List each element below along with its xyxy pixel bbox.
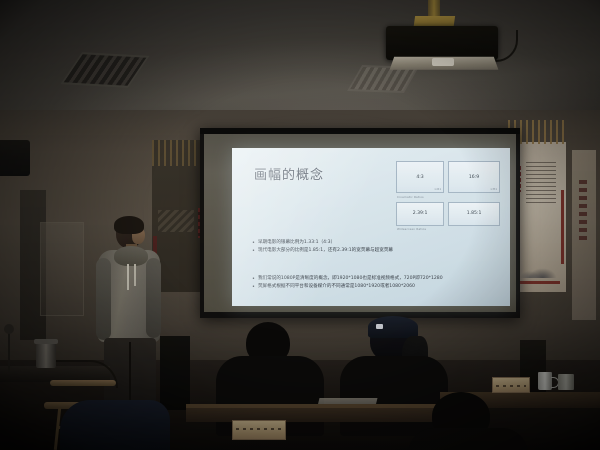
projector-lens bbox=[432, 58, 454, 66]
microphone-icon bbox=[4, 324, 14, 334]
metal-cup bbox=[538, 372, 552, 390]
bullet-text: 荧屏格式根据不同平台和设备媒介的不同通常是1080*1920或者1080*206… bbox=[258, 284, 415, 291]
ceiling-projector bbox=[386, 26, 498, 60]
ink-wash-mountain-art bbox=[514, 244, 560, 278]
cap-logo bbox=[376, 324, 383, 329]
aspect-caption-bottom: Widescreen Ratios bbox=[397, 227, 500, 231]
floor-speaker-left bbox=[160, 336, 190, 410]
aspect-box-4-3: 4:3 1.33:1 bbox=[396, 161, 444, 193]
banner-vertical-text bbox=[579, 180, 587, 240]
kettle-lid bbox=[34, 339, 58, 344]
slide-bullet-group-2: • 我们常说的1080P是清晰度的概念，即1920*1080也是标准视频格式，7… bbox=[252, 276, 452, 291]
hoodie-drawstring bbox=[134, 264, 136, 286]
audience-member-4 bbox=[60, 400, 170, 450]
wall-ac-unit bbox=[0, 140, 30, 176]
electric-kettle bbox=[36, 342, 56, 368]
name-card bbox=[232, 420, 286, 440]
presenter-hood bbox=[114, 246, 148, 266]
bullet-dot: • bbox=[252, 284, 255, 291]
aspect-box-16-9: 16:9 1.78:1 bbox=[448, 161, 500, 193]
audience-torso bbox=[408, 428, 528, 450]
classroom-presentation-photo: 画幅的概念 4:3 1.33:1 16:9 1.78:1 Cinematic R… bbox=[0, 0, 600, 450]
audience-torso bbox=[60, 400, 170, 450]
banner-body-text bbox=[526, 162, 556, 206]
slide-bullet: • 我们常说的1080P是清晰度的概念，即1920*1080也是标准视频格式，7… bbox=[252, 276, 452, 283]
presenter-arm-left bbox=[96, 258, 111, 340]
screen-surface: 画幅的概念 4:3 1.33:1 16:9 1.78:1 Cinematic R… bbox=[204, 134, 516, 312]
banner-rule bbox=[514, 281, 560, 284]
aspect-label: 4:3 bbox=[416, 175, 423, 180]
microphone-stand bbox=[8, 330, 10, 374]
aspect-ratio-row-top: 4:3 1.33:1 16:9 1.78:1 bbox=[396, 161, 500, 193]
audience-member-3 bbox=[408, 392, 528, 450]
bullet-text: 早期电影的银幕比例为1.33:1（4:3） bbox=[258, 240, 335, 247]
aspect-box-2-39: 2.39:1 bbox=[396, 202, 444, 226]
bullet-dot: • bbox=[252, 276, 255, 283]
bullet-dot: • bbox=[252, 240, 255, 247]
presenter-arm-right bbox=[146, 258, 161, 338]
slide-bullet-group-1: • 早期电影的银幕比例为1.33:1（4:3） • 现代电影大部分的比例是1.8… bbox=[252, 240, 452, 255]
name-card-text bbox=[236, 428, 282, 430]
slide-bullet: • 荧屏格式根据不同平台和设备媒介的不同通常是1080*1920或者1080*2… bbox=[252, 284, 452, 291]
banner-rule bbox=[561, 190, 564, 264]
aspect-label: 1.85:1 bbox=[467, 211, 482, 216]
aspect-label: 2.39:1 bbox=[413, 211, 428, 216]
aspect-label: 16:9 bbox=[469, 175, 479, 180]
bullet-text: 我们常说的1080P是清晰度的概念，即1920*1080也是标准视频格式，720… bbox=[258, 276, 443, 283]
aspect-note: 1.33:1 bbox=[434, 188, 441, 191]
name-card-text bbox=[496, 385, 526, 387]
presentation-slide: 画幅的概念 4:3 1.33:1 16:9 1.78:1 Cinematic R… bbox=[232, 148, 510, 306]
aspect-caption-top: Cinematic Ratios bbox=[397, 195, 500, 199]
slide-bullet: • 早期电影的银幕比例为1.33:1（4:3） bbox=[252, 240, 452, 247]
chair-backrest bbox=[50, 380, 116, 386]
hoodie-drawstring bbox=[127, 264, 129, 290]
aspect-ratio-diagram: 4:3 1.33:1 16:9 1.78:1 Cinematic Ratios … bbox=[396, 161, 500, 234]
bullet-dot: • bbox=[252, 248, 255, 255]
projection-screen: 画幅的概念 4:3 1.33:1 16:9 1.78:1 Cinematic R… bbox=[200, 128, 520, 318]
bullet-text: 现代电影大部分的比例是1.85:1，还有2.39:1的宽荧幕与超宽荧幕 bbox=[258, 248, 393, 255]
aspect-box-1-85: 1.85:1 bbox=[448, 202, 500, 226]
slide-bullet: • 现代电影大部分的比例是1.85:1，还有2.39:1的宽荧幕与超宽荧幕 bbox=[252, 248, 452, 255]
metal-mug bbox=[558, 374, 574, 390]
slide-title: 画幅的概念 bbox=[254, 164, 324, 183]
aspect-ratio-row-bottom: 2.39:1 1.85:1 bbox=[396, 202, 500, 226]
presenter-hair bbox=[114, 216, 144, 234]
wall-panel bbox=[40, 222, 84, 316]
name-card bbox=[492, 377, 530, 393]
aspect-note: 1.78:1 bbox=[490, 188, 497, 191]
wall-scroll-banner-side bbox=[572, 150, 596, 320]
